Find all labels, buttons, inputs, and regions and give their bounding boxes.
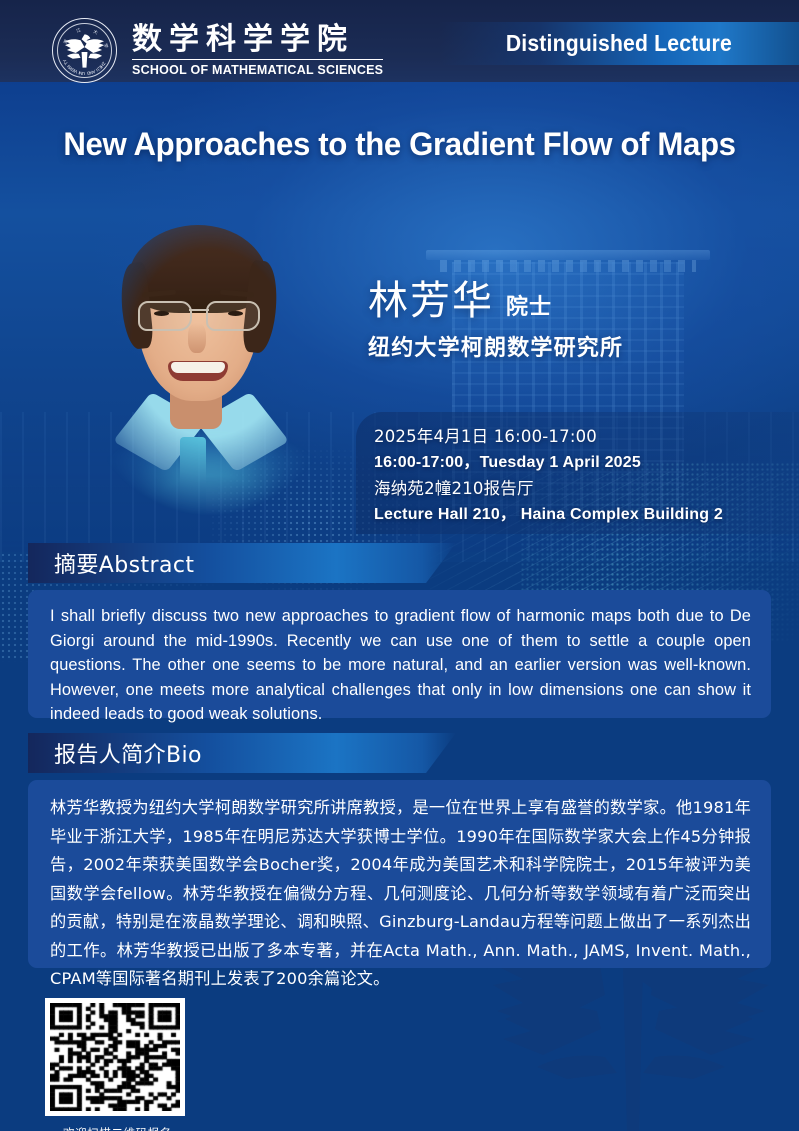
abstract-panel: I shall briefly discuss two new approach…: [28, 590, 771, 718]
page-title: New Approaches to the Gradient Flow of M…: [16, 126, 783, 163]
university-logo-lockup: 浙江大学ZHEJIANG UNIVERSITY 数学科学学院 SCHOOL OF…: [52, 18, 383, 83]
section-header-abstract-label: 摘要Abstract: [54, 547, 194, 579]
event-details-box: 2025年4月1日 16:00-17:00 16:00-17:00，Tuesda…: [356, 412, 799, 534]
section-header-abstract: 摘要Abstract: [28, 543, 456, 583]
abstract-text: I shall briefly discuss two new approach…: [50, 604, 751, 727]
qr-caption: 欢迎扫描二维码报名: [45, 1125, 190, 1131]
qr-registration-block: 欢迎扫描二维码报名: [45, 998, 190, 1131]
section-header-bio: 报告人简介Bio: [28, 733, 456, 773]
zhejiang-university-seal-icon: 浙江大学ZHEJIANG UNIVERSITY: [52, 18, 117, 83]
event-venue-cn: 海纳苑2幢210报告厅: [374, 476, 799, 502]
ribbon-label: Distinguished Lecture: [506, 30, 732, 57]
lecture-poster: 浙江大学ZHEJIANG UNIVERSITY 数学科学学院 SCHOOL OF…: [0, 0, 799, 1131]
logo-divider: [132, 59, 383, 60]
speaker-name-row: 林芳华 院士: [368, 268, 552, 326]
speaker-portrait-photo: [62, 205, 358, 550]
event-venue-en: Lecture Hall 210， Haina Complex Building…: [374, 502, 799, 528]
speaker-affiliation: 纽约大学柯朗数学研究所: [368, 330, 623, 362]
speaker-title: 院士: [506, 289, 552, 321]
bio-text: 林芳华教授为纽约大学柯朗数学研究所讲席教授，是一位在世界上享有盛誉的数学家。他1…: [50, 794, 751, 994]
qr-code-image[interactable]: [45, 998, 185, 1116]
speaker-name: 林芳华: [368, 268, 494, 326]
school-name-en: SCHOOL OF MATHEMATICAL SCIENCES: [132, 63, 383, 77]
seal-ring-text: 浙江大学ZHEJIANG UNIVERSITY: [53, 19, 116, 82]
distinguished-lecture-ribbon: Distinguished Lecture: [439, 22, 799, 65]
bio-panel: 林芳华教授为纽约大学柯朗数学研究所讲席教授，是一位在世界上享有盛誉的数学家。他1…: [28, 780, 771, 968]
event-date-cn: 2025年4月1日 16:00-17:00: [374, 424, 799, 450]
section-header-bio-label: 报告人简介Bio: [54, 737, 202, 769]
event-date-en: 16:00-17:00，Tuesday 1 April 2025: [374, 450, 799, 476]
school-name-cn: 数学科学学院: [132, 24, 383, 56]
